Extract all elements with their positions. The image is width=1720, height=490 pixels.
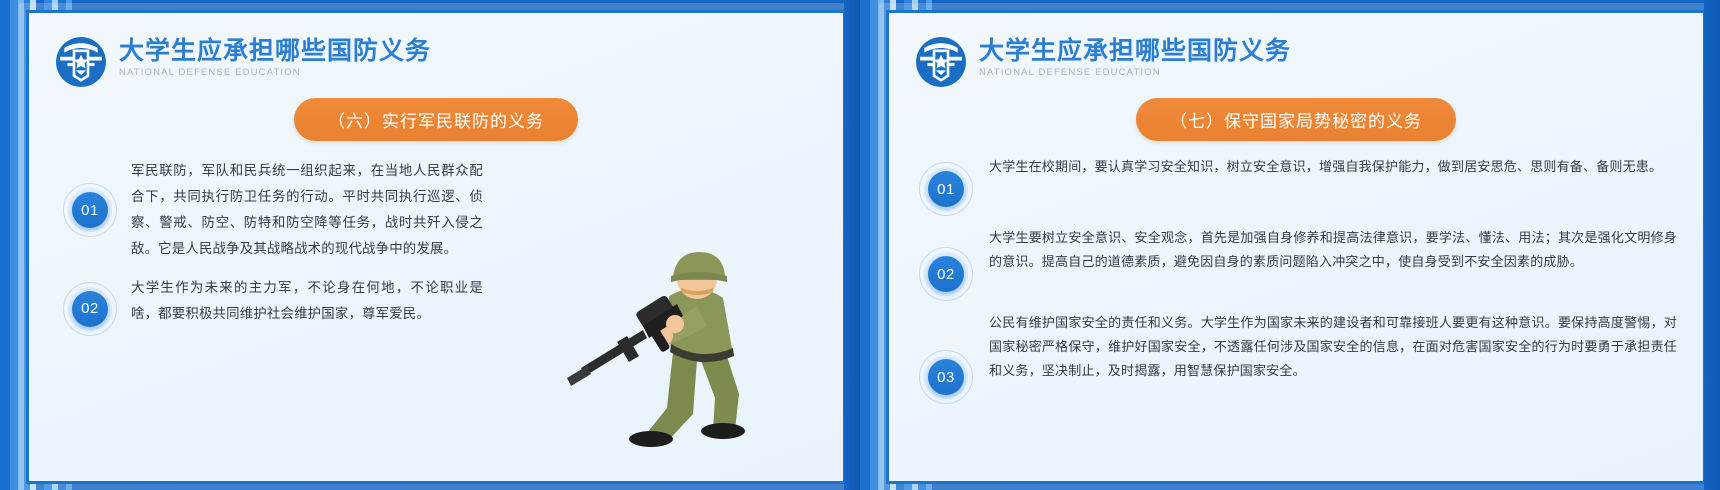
item-number-badge: 01: [919, 162, 973, 216]
section-badge: （六）实行军民联防的义务: [294, 98, 578, 141]
slide-left-items: 01 军民联防，军队和民兵统一组织起来，在当地人民群众配合下，共同执行防卫任务的…: [63, 157, 483, 336]
slide-right: 大学生应承担哪些国防义务 NATIONAL DEFENSE EDUCATION …: [860, 0, 1720, 490]
item-number: 01: [72, 192, 108, 228]
slide-left-card: 大学生应承担哪些国防义务 NATIONAL DEFENSE EDUCATION …: [26, 10, 846, 484]
slide-left-header: 大学生应承担哪些国防义务 NATIONAL DEFENSE EDUCATION: [55, 35, 817, 88]
page-title: 大学生应承担哪些国防义务: [119, 37, 431, 65]
item-text: 大学生要树立安全意识、安全观念，首先是加强自身修养和提高法律意识，要学法、懂法、…: [989, 225, 1677, 274]
list-item: 02 大学生作为未来的主力军，不论身在何地，不论职业是啥，都要积极共同维护社会维…: [63, 274, 483, 336]
soldier-with-rifle-illustration-icon: [547, 232, 757, 447]
slide-right-card: 大学生应承担哪些国防义务 NATIONAL DEFENSE EDUCATION …: [886, 10, 1706, 484]
page-title: 大学生应承担哪些国防义务: [979, 37, 1291, 65]
item-number-badge: 02: [63, 282, 117, 336]
page-subtitle: NATIONAL DEFENSE EDUCATION: [119, 67, 431, 78]
item-text: 公民有维护国家安全的责任和义务。大学生作为国家未来的建设者和可靠接班人要更有这种…: [989, 310, 1677, 383]
list-item: 01 军民联防，军队和民兵统一组织起来，在当地人民群众配合下，共同执行防卫任务的…: [63, 157, 483, 263]
item-number: 02: [72, 291, 108, 327]
item-number: 02: [928, 256, 964, 292]
list-item: 02 大学生要树立安全意识、安全观念，首先是加强自身修养和提高法律意识，要学法、…: [919, 225, 1677, 301]
page-subtitle: NATIONAL DEFENSE EDUCATION: [979, 67, 1291, 78]
national-defense-emblem-icon: [915, 36, 967, 88]
list-item: 03 公民有维护国家安全的责任和义务。大学生作为国家未来的建设者和可靠接班人要更…: [919, 310, 1677, 404]
item-number-badge: 01: [63, 183, 117, 237]
item-text: 大学生在校期间，要认真学习安全知识，树立安全意识，增强自我保护能力，做到居安思危…: [989, 154, 1677, 179]
item-number-badge: 02: [919, 247, 973, 301]
item-number: 01: [928, 171, 964, 207]
slide-right-items: 01 大学生在校期间，要认真学习安全知识，树立安全意识，增强自我保护能力，做到居…: [919, 154, 1677, 404]
slide-deck: 大学生应承担哪些国防义务 NATIONAL DEFENSE EDUCATION …: [0, 0, 1720, 490]
national-defense-emblem-icon: [55, 36, 107, 88]
item-number-badge: 03: [919, 350, 973, 404]
item-number: 03: [928, 359, 964, 395]
section-badge: （七）保守国家局势秘密的义务: [1136, 98, 1456, 141]
list-item: 01 大学生在校期间，要认真学习安全知识，树立安全意识，增强自我保护能力，做到居…: [919, 154, 1677, 216]
item-text: 军民联防，军队和民兵统一组织起来，在当地人民群众配合下，共同执行防卫任务的行动。…: [131, 157, 483, 263]
item-text: 大学生作为未来的主力军，不论身在何地，不论职业是啥，都要积极共同维护社会维护国家…: [131, 274, 483, 327]
slide-right-header: 大学生应承担哪些国防义务 NATIONAL DEFENSE EDUCATION: [915, 35, 1677, 88]
slide-left: 大学生应承担哪些国防义务 NATIONAL DEFENSE EDUCATION …: [0, 0, 860, 490]
